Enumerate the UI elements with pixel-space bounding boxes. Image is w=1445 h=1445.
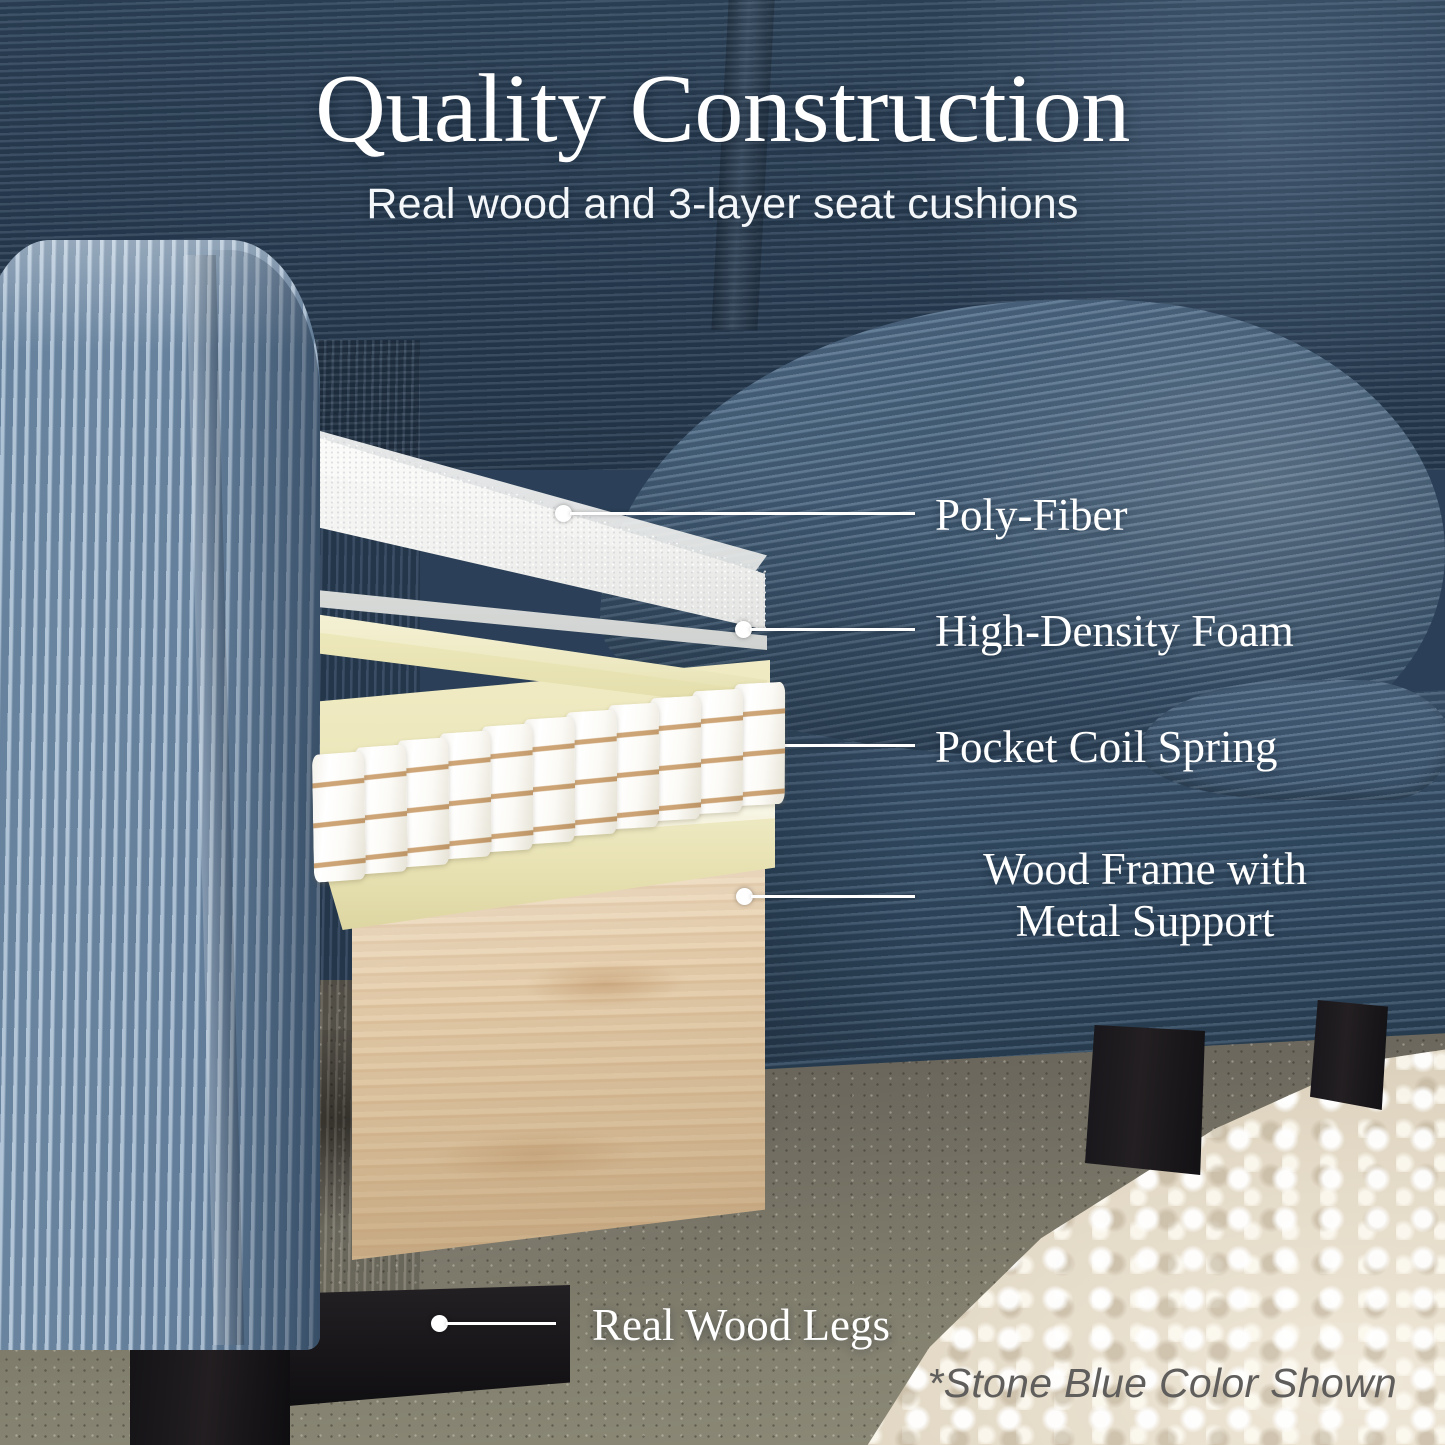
callout-leader-line-poly-fiber <box>570 512 915 515</box>
callout-label-wood-frame-line1: Wood Frame with <box>983 844 1307 894</box>
color-disclaimer-footnote: *Stone Blue Color Shown <box>927 1360 1397 1407</box>
callout-label-real-wood-legs: Real Wood Legs <box>592 1299 890 1351</box>
callout-label-wood-frame-line2: Metal Support <box>1016 896 1275 946</box>
callout-label-poly-fiber: Poly-Fiber <box>935 489 1128 541</box>
callout-label-high-density-foam: High-Density Foam <box>935 605 1294 657</box>
page-subtitle: Real wood and 3-layer seat cushions <box>0 180 1445 229</box>
product-infographic: Quality Construction Real wood and 3-lay… <box>0 0 1445 1445</box>
callout-label-pocket-coil-spring: Pocket Coil Spring <box>935 721 1278 773</box>
callout-leader-line-real-wood-legs <box>446 1322 556 1325</box>
sofa-leg-right-rear <box>1310 1000 1388 1110</box>
callout-leader-line-high-density-foam <box>750 628 915 631</box>
sofa-leg-right-front <box>1085 1025 1205 1175</box>
page-title: Quality Construction <box>0 58 1445 162</box>
pocket-coil <box>312 751 366 883</box>
callout-label-wood-frame: Wood Frame with Metal Support <box>935 843 1355 947</box>
callout-leader-line-wood-frame <box>751 895 915 898</box>
